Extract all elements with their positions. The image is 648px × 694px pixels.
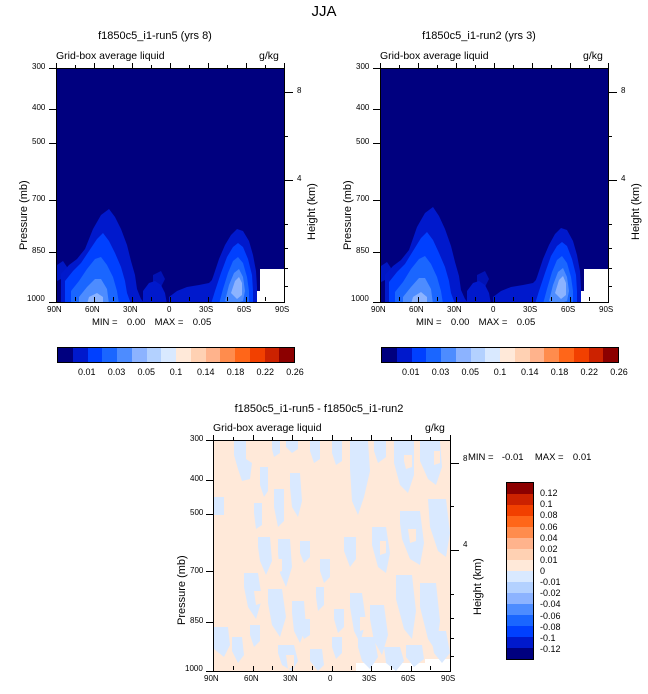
- panel-run2-y2-axis-label: Height (km): [630, 183, 642, 240]
- colorbar-seg-5: [132, 348, 147, 362]
- panel-run5-bottom-ticks: [56, 297, 285, 303]
- colorbar-seg-5: [456, 348, 471, 362]
- colorbar-seg-9: [515, 348, 530, 362]
- colorbar-seg-3: [102, 348, 117, 362]
- x-tick-30N: 30N: [447, 305, 462, 314]
- cbar-label-6: 0.22: [581, 367, 599, 377]
- vcolorbar-seg-2: [507, 505, 533, 516]
- cbar-label-4: 0.14: [521, 367, 539, 377]
- y-tick-850: 850: [32, 246, 45, 255]
- cbar-label-0: 0.01: [402, 367, 420, 377]
- x-tick-90S: 90S: [275, 305, 289, 314]
- vcolorbar-seg-4: [507, 527, 533, 538]
- y-tick-500: 500: [32, 137, 45, 146]
- vcolorbar-seg-6: [507, 549, 533, 560]
- y2-tick-8: 8: [463, 454, 467, 463]
- panel-run5-y2-axis-label: Height (km): [306, 183, 318, 240]
- colorbar-seg-3: [426, 348, 441, 362]
- vcbar-label-2: 0.08: [540, 510, 558, 520]
- panel-run5-contour-field: [57, 69, 285, 303]
- panel-run2-max-value: 0.05: [517, 317, 536, 328]
- colorbar-seg-7: [485, 348, 500, 362]
- x-tick-90S: 90S: [599, 305, 613, 314]
- panel-difference-plot-area[interactable]: [213, 440, 451, 672]
- cbar-label-1: 0.03: [432, 367, 450, 377]
- vcolorbar-seg-1: [507, 494, 533, 505]
- y-tick-300: 300: [190, 434, 203, 443]
- panel-difference-right-ticks: [451, 440, 459, 672]
- x-tick-60N: 60N: [409, 305, 424, 314]
- cbar-label-1: 0.03: [108, 367, 126, 377]
- x-tick-60S: 60S: [237, 305, 251, 314]
- panel-run5-y-axis-label: Pressure (mb): [18, 180, 30, 250]
- vcbar-label-7: 0: [540, 566, 545, 576]
- vcbar-label-1: 0.1: [540, 499, 553, 509]
- colorbar-seg-0: [58, 348, 73, 362]
- panel-run5-max-value: 0.05: [193, 317, 212, 328]
- vcbar-label-9: -0.02: [540, 588, 561, 598]
- cbar-label-3: 0.1: [494, 367, 507, 377]
- colorbar-seg-6: [471, 348, 486, 362]
- colorbar-seg-6: [147, 348, 162, 362]
- vcbar-label-10: -0.04: [540, 599, 561, 609]
- cbar-label-6: 0.22: [257, 367, 275, 377]
- x-tick-90S: 90S: [441, 674, 455, 683]
- panel-difference-minmax: MIN = -0.01 MAX = 0.01: [468, 452, 591, 463]
- colorbar-seg-2: [88, 348, 103, 362]
- panel-run5-field-label: Grid-box average liquid: [56, 50, 165, 62]
- panel-difference-min-label: MIN =: [468, 452, 494, 463]
- vcolorbar-seg-3: [507, 516, 533, 527]
- colorbar-seg-1: [73, 348, 88, 362]
- y-tick-700: 700: [32, 194, 45, 203]
- colorbar-seg-12: [559, 348, 574, 362]
- vcbar-label-12: -0.08: [540, 622, 561, 632]
- colorbar-seg-8: [500, 348, 515, 362]
- panel-run5-left-ticks: [49, 68, 56, 303]
- vcolorbar-seg-7: [507, 560, 533, 571]
- panel-run2-min-value: 0.00: [451, 317, 470, 328]
- vcbar-label-13: -0.1: [540, 633, 556, 643]
- panel-run5-top-ticks: [56, 63, 285, 69]
- vcolorbar-seg-5: [507, 538, 533, 549]
- colorbar-seg-11: [544, 348, 559, 362]
- y-tick-700: 700: [190, 566, 203, 575]
- y2-tick-4: 4: [463, 540, 467, 549]
- panel-run2: f1850c5_i1-run2 (yrs 3) Grid-box average…: [324, 25, 648, 335]
- panel-difference-min-value: -0.01: [502, 452, 524, 463]
- panel-difference-y2-axis-label: Height (km): [472, 558, 484, 615]
- vcolorbar-seg-9: [507, 582, 533, 593]
- panel-run2-units: g/kg: [583, 50, 603, 62]
- colorbar-seg-12: [235, 348, 250, 362]
- x-tick-0: 0: [167, 305, 171, 314]
- x-tick-30S: 30S: [362, 674, 376, 683]
- vcolorbar-seg-10: [507, 593, 533, 604]
- cbar-label-2: 0.05: [138, 367, 156, 377]
- x-tick-30N: 30N: [123, 305, 138, 314]
- y-tick-500: 500: [356, 137, 369, 146]
- colorbar-seg-11: [220, 348, 235, 362]
- colorbar-run2[interactable]: [381, 347, 619, 363]
- panel-run2-plot-area[interactable]: [380, 68, 609, 303]
- panel-run5-units: g/kg: [259, 50, 279, 62]
- cbar-label-5: 0.18: [551, 367, 569, 377]
- x-tick-0: 0: [491, 305, 495, 314]
- x-tick-60N: 60N: [85, 305, 100, 314]
- y2-tick-4: 4: [621, 174, 625, 183]
- colorbar-seg-4: [117, 348, 132, 362]
- vcbar-label-3: 0.06: [540, 522, 558, 532]
- panel-difference: f1850c5_i1-run5 - f1850c5_i1-run2 Grid-b…: [160, 400, 490, 694]
- panel-difference-field-label: Grid-box average liquid: [213, 422, 322, 434]
- cbar-label-2: 0.05: [462, 367, 480, 377]
- vcbar-label-14: -0.12: [540, 644, 561, 654]
- panel-run5-minmax: MIN = 0.00 MAX = 0.05: [92, 317, 211, 328]
- x-tick-90N: 90N: [204, 674, 219, 683]
- y-tick-400: 400: [32, 103, 45, 112]
- colorbar-difference[interactable]: [506, 482, 534, 660]
- panel-run2-title: f1850c5_i1-run2 (yrs 3): [324, 30, 634, 42]
- colorbar-seg-13: [574, 348, 589, 362]
- cbar-label-5: 0.18: [227, 367, 245, 377]
- panel-run5-plot-area[interactable]: [56, 68, 285, 303]
- colorbar-seg-2: [412, 348, 427, 362]
- vcolorbar-seg-15: [507, 648, 533, 659]
- panel-run2-field-label: Grid-box average liquid: [380, 50, 489, 62]
- vcbar-label-0: 0.12: [540, 488, 558, 498]
- panel-run5-min-value: 0.00: [127, 317, 146, 328]
- y2-tick-8: 8: [621, 86, 625, 95]
- x-tick-90N: 90N: [371, 305, 386, 314]
- panel-run2-contour-field: [381, 69, 609, 303]
- panel-run2-bottom-ticks: [380, 297, 609, 303]
- panel-difference-max-label: MAX =: [535, 452, 564, 463]
- panel-run2-left-ticks: [373, 68, 380, 303]
- colorbar-seg-13: [250, 348, 265, 362]
- y-tick-850: 850: [356, 246, 369, 255]
- vcbar-label-6: 0.01: [540, 555, 558, 565]
- x-tick-0: 0: [328, 674, 332, 683]
- y-tick-300: 300: [32, 62, 45, 71]
- colorbar-seg-0: [382, 348, 397, 362]
- panel-run2-y-axis-label: Pressure (mb): [342, 180, 354, 250]
- panel-run5-min-label: MIN =: [92, 317, 118, 328]
- panel-difference-bottom-ticks: [213, 666, 451, 672]
- panel-difference-units: g/kg: [425, 422, 445, 434]
- x-tick-30S: 30S: [523, 305, 537, 314]
- y-tick-400: 400: [190, 474, 203, 483]
- colorbar-seg-4: [441, 348, 456, 362]
- y-tick-500: 500: [190, 508, 203, 517]
- y-tick-400: 400: [356, 103, 369, 112]
- panel-difference-top-ticks: [213, 435, 451, 441]
- x-tick-30S: 30S: [199, 305, 213, 314]
- panel-run2-minmax: MIN = 0.00 MAX = 0.05: [416, 317, 535, 328]
- panel-difference-title: f1850c5_i1-run5 - f1850c5_i1-run2: [160, 403, 478, 415]
- colorbar-seg-8: [176, 348, 191, 362]
- panel-run2-max-label: MAX =: [479, 317, 508, 328]
- x-tick-90N: 90N: [47, 305, 62, 314]
- y-tick-850: 850: [190, 616, 203, 625]
- cbar-label-0: 0.01: [78, 367, 96, 377]
- x-tick-30N: 30N: [283, 674, 298, 683]
- panel-run2-min-label: MIN =: [416, 317, 442, 328]
- y-tick-1000: 1000: [351, 294, 369, 303]
- vcolorbar-seg-0: [507, 483, 533, 494]
- colorbar-seg-14: [265, 348, 280, 362]
- cbar-label-7: 0.26: [286, 367, 304, 377]
- y2-tick-4: 4: [297, 174, 301, 183]
- panel-difference-contour-field: [214, 441, 451, 672]
- page-title: JJA: [0, 3, 648, 20]
- vcolorbar-seg-11: [507, 604, 533, 615]
- panel-run5-title: f1850c5_i1-run5 (yrs 8): [0, 30, 310, 42]
- panel-run2-top-ticks: [380, 63, 609, 69]
- colorbar-seg-7: [161, 348, 176, 362]
- colorbar-seg-14: [589, 348, 604, 362]
- y-tick-1000: 1000: [27, 294, 45, 303]
- y-tick-1000: 1000: [185, 664, 203, 673]
- colorbar-seg-1: [397, 348, 412, 362]
- vcolorbar-seg-13: [507, 626, 533, 637]
- x-tick-60S: 60S: [401, 674, 415, 683]
- cbar-label-3: 0.1: [170, 367, 183, 377]
- panel-difference-max-value: 0.01: [573, 452, 592, 463]
- colorbar-seg-15: [603, 348, 618, 362]
- panel-run5-max-label: MAX =: [155, 317, 184, 328]
- vcbar-label-11: -0.06: [540, 611, 561, 621]
- colorbar-seg-15: [279, 348, 294, 362]
- cbar-label-4: 0.14: [197, 367, 215, 377]
- colorbar-seg-9: [191, 348, 206, 362]
- vcbar-label-5: 0.02: [540, 544, 558, 554]
- y2-tick-8: 8: [297, 86, 301, 95]
- vcolorbar-seg-8: [507, 571, 533, 582]
- vcolorbar-seg-12: [507, 615, 533, 626]
- panel-difference-left-ticks: [206, 440, 213, 672]
- panel-run2-right-ticks: [609, 68, 617, 303]
- vcolorbar-seg-14: [507, 637, 533, 648]
- panel-run5-right-ticks: [285, 68, 293, 303]
- y-tick-300: 300: [356, 62, 369, 71]
- x-tick-60N: 60N: [244, 674, 259, 683]
- colorbar-run5[interactable]: [57, 347, 295, 363]
- x-tick-60S: 60S: [561, 305, 575, 314]
- vcbar-label-8: -0.01: [540, 577, 561, 587]
- colorbar-seg-10: [530, 348, 545, 362]
- colorbar-seg-10: [206, 348, 221, 362]
- y-tick-700: 700: [356, 194, 369, 203]
- cbar-label-7: 0.26: [610, 367, 628, 377]
- panel-difference-y-axis-label: Pressure (mb): [176, 555, 188, 625]
- vcbar-label-4: 0.04: [540, 533, 558, 543]
- panel-run5: f1850c5_i1-run5 (yrs 8) Grid-box average…: [0, 25, 324, 335]
